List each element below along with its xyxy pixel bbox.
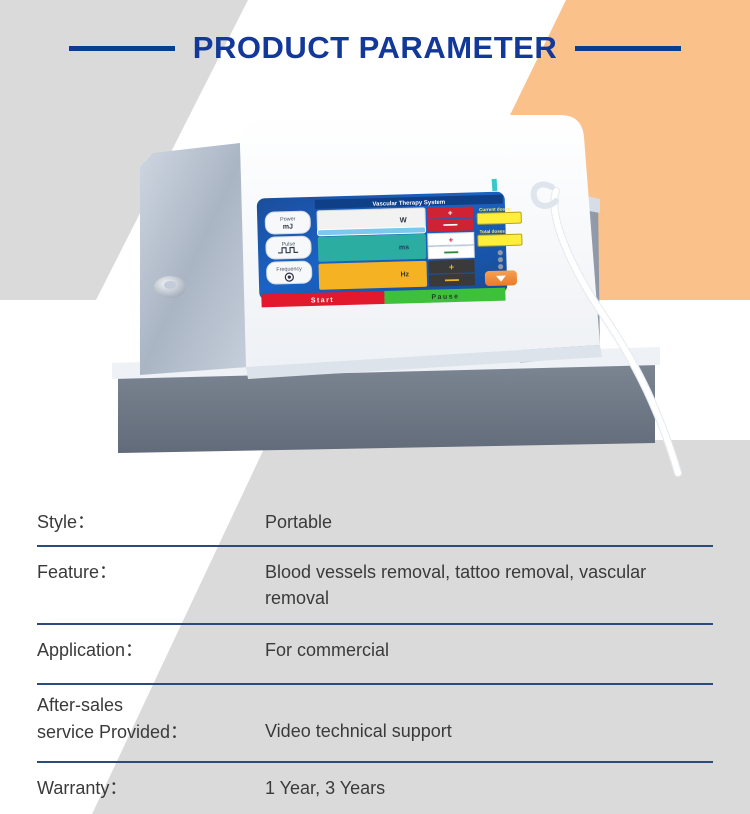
unit-label-w: W <box>400 215 408 224</box>
spec-value: Video technical support <box>265 685 713 744</box>
svg-text:Pulse: Pulse <box>282 241 296 247</box>
power-icon: mJ <box>283 223 293 230</box>
unit-label-ms: ms <box>399 244 409 251</box>
spec-value: Portable <box>265 497 713 535</box>
svg-text:Pause: Pause <box>431 293 459 301</box>
mode-button-power: Power mJ <box>265 211 311 234</box>
page-root: PRODUCT PARAMETER <box>0 0 750 814</box>
svg-text:Start: Start <box>311 297 335 305</box>
spec-label-line1: Application： <box>37 637 265 663</box>
control-panel: Vascular Therapy System Power mJ Pulse F… <box>257 192 524 308</box>
value-row-ms: ms + <box>318 232 475 261</box>
unit-label-hz: Hz <box>400 271 409 278</box>
left-rule <box>69 46 175 51</box>
spec-label: Warranty： <box>37 763 265 801</box>
side-knob-center <box>164 281 176 289</box>
total-doses-label: Total doses: <box>480 229 507 235</box>
spec-label-line2: service Provided： <box>37 719 265 745</box>
current-doses-label: Current doses: <box>479 206 512 212</box>
spec-label: Feature： <box>37 547 265 585</box>
spec-value: For commercial <box>265 625 713 663</box>
table-row: Style： Portable <box>37 497 713 547</box>
product-photo: Vascular Therapy System Power mJ Pulse F… <box>0 95 750 495</box>
page-header: PRODUCT PARAMETER <box>0 25 750 71</box>
left-side-panel <box>140 143 248 375</box>
svg-text:+: + <box>448 209 453 218</box>
spec-label-line1: Style： <box>37 509 265 535</box>
table-row: Warranty： 1 Year, 3 Years <box>37 763 713 814</box>
spec-label: Style： <box>37 497 265 535</box>
current-doses-value <box>477 212 521 224</box>
svg-text:Frequency: Frequency <box>276 266 302 273</box>
total-doses-value <box>478 234 522 246</box>
spec-label: Application： <box>37 625 265 663</box>
spec-label: After-sales service Provided： <box>37 685 265 745</box>
table-row: Feature： Blood vessels removal, tattoo r… <box>37 547 713 625</box>
svg-text:+: + <box>448 236 453 245</box>
spec-value: Blood vessels removal, tattoo removal, v… <box>265 547 713 611</box>
right-rule <box>575 46 681 51</box>
svg-text:Power: Power <box>280 216 296 222</box>
spec-value: 1 Year, 3 Years <box>265 763 713 801</box>
spec-table: Style： Portable Feature： Blood vessels r… <box>37 497 713 814</box>
mode-button-frequency: Frequency <box>266 261 312 284</box>
spec-label-line1: After-sales <box>37 692 265 718</box>
table-row: After-sales service Provided： Video tech… <box>37 685 713 763</box>
page-title: PRODUCT PARAMETER <box>193 30 557 66</box>
value-row-hz: Hz + <box>318 259 475 289</box>
mode-button-pulse: Pulse <box>266 236 312 259</box>
spec-label-line1: Feature： <box>37 559 265 585</box>
table-row: Application： For commercial <box>37 625 713 685</box>
status-indicator <box>492 179 498 191</box>
svg-text:+: + <box>449 262 455 272</box>
spec-label-line1: Warranty： <box>37 775 265 801</box>
